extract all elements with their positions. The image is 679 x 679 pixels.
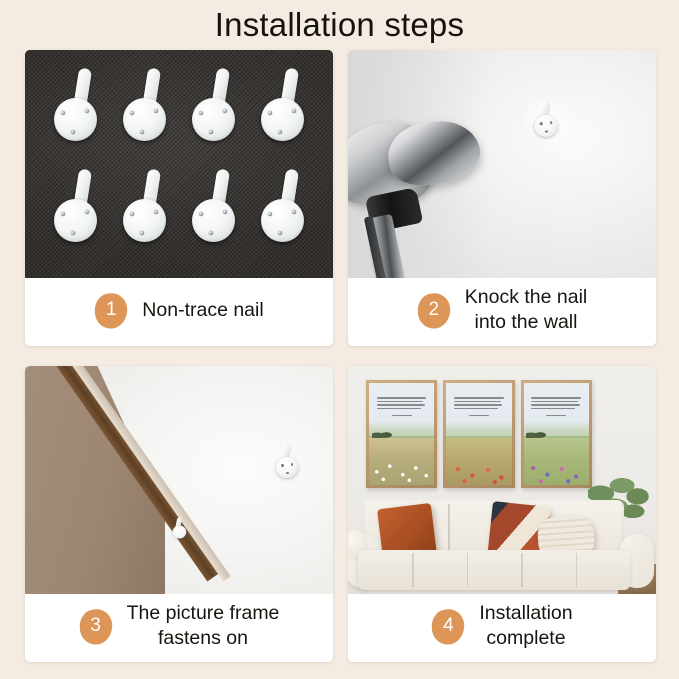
nail-pin <box>223 210 227 214</box>
nail-pin <box>71 231 75 235</box>
steps-grid: 1 Non-trace nail <box>25 50 656 662</box>
nail-pin <box>85 109 89 113</box>
nail-pin <box>278 231 282 235</box>
nail-head-disc <box>123 199 166 242</box>
nail-pin <box>154 210 158 214</box>
nail-pin <box>199 212 203 216</box>
sofa <box>352 494 644 594</box>
step-3-photo <box>25 366 333 594</box>
step-card-3: 3 The picture frame fastens on <box>25 366 333 662</box>
nail-pin <box>154 109 158 113</box>
step-2-caption: 2 Knock the nail into the wall <box>348 278 656 346</box>
hook-disc <box>534 115 557 137</box>
hook-disc <box>173 526 187 539</box>
nail-pin <box>199 111 203 115</box>
step-number: 2 <box>417 292 451 329</box>
installation-steps-page: Installation steps <box>0 0 679 679</box>
installed-hook-nail <box>531 101 563 137</box>
page-title: Installation steps <box>0 4 679 46</box>
nail-pin <box>209 130 213 134</box>
hammer-icon <box>348 112 501 277</box>
nail-pin <box>268 212 272 216</box>
step-number: 1 <box>94 292 128 329</box>
step-number-badge: 4 <box>431 608 465 645</box>
print-artwork <box>446 383 511 485</box>
framed-print <box>521 380 592 488</box>
nail-pin <box>140 130 144 134</box>
framed-print <box>366 380 437 488</box>
step-number-badge: 3 <box>79 608 113 645</box>
nail-head-disc <box>54 199 97 242</box>
print-quote-lines <box>377 397 427 416</box>
step-number: 4 <box>431 608 465 645</box>
nail-head-disc <box>261 199 304 242</box>
hook-pin <box>545 130 548 133</box>
hook-nail <box>179 163 248 264</box>
nail-pin <box>209 231 213 235</box>
nail-pin <box>130 212 134 216</box>
nail-head-disc <box>261 98 304 141</box>
nail-pin <box>130 111 134 115</box>
nail-head-disc <box>192 199 235 242</box>
installed-hook-nail <box>273 444 303 478</box>
step-card-1: 1 Non-trace nail <box>25 50 333 346</box>
nail-pin <box>140 231 144 235</box>
print-artwork <box>524 383 589 485</box>
step-number-badge: 1 <box>94 292 128 329</box>
step-label: Knock the nail into the wall <box>465 285 588 335</box>
print-meadow <box>369 438 434 485</box>
hook-nail <box>41 163 110 264</box>
sofa-seat <box>358 550 630 590</box>
hook-nail <box>110 62 179 163</box>
print-artwork <box>369 383 434 485</box>
print-quote-lines <box>531 397 581 416</box>
hook-nail <box>248 62 317 163</box>
step-card-2: 2 Knock the nail into the wall <box>348 50 656 346</box>
hook-pin <box>540 122 543 125</box>
hook-disc <box>276 457 298 478</box>
picture-frame <box>25 366 165 594</box>
nail-pin <box>292 109 296 113</box>
hook-pin <box>286 472 289 475</box>
print-quote-lines <box>454 397 504 416</box>
installed-hook-nail <box>171 517 190 538</box>
step-label: Installation complete <box>479 601 572 651</box>
step-3-caption: 3 The picture frame fastens on <box>25 594 333 662</box>
step-number: 3 <box>79 608 113 645</box>
nail-pin <box>61 212 65 216</box>
nail-head-disc <box>54 98 97 141</box>
nail-pin <box>278 130 282 134</box>
step-number-badge: 2 <box>417 292 451 329</box>
step-1-photo <box>25 50 333 278</box>
print-meadow <box>446 438 511 485</box>
hook-pin <box>550 121 553 124</box>
framed-print <box>443 380 514 488</box>
nail-pin <box>71 130 75 134</box>
nail-pin <box>223 109 227 113</box>
nail-head-disc <box>192 98 235 141</box>
hook-nail <box>110 163 179 264</box>
step-card-4: 4 Installation complete <box>348 366 656 662</box>
step-1-caption: 1 Non-trace nail <box>25 278 333 346</box>
hook-nail <box>179 62 248 163</box>
step-4-photo <box>348 366 656 594</box>
hook-nail <box>41 62 110 163</box>
print-meadow <box>524 438 589 485</box>
step-4-caption: 4 Installation complete <box>348 594 656 662</box>
nail-pin <box>61 111 65 115</box>
nail-pin <box>268 111 272 115</box>
step-2-photo <box>348 50 656 278</box>
framed-art-set <box>366 380 592 488</box>
nail-pin <box>292 210 296 214</box>
step-label: The picture frame fastens on <box>127 601 280 651</box>
hook-nail <box>248 163 317 264</box>
step-label: Non-trace nail <box>142 298 263 323</box>
nail-set <box>25 50 333 278</box>
nail-pin <box>85 210 89 214</box>
nail-head-disc <box>123 98 166 141</box>
hook-pin <box>281 464 284 467</box>
hook-pin <box>291 463 294 466</box>
